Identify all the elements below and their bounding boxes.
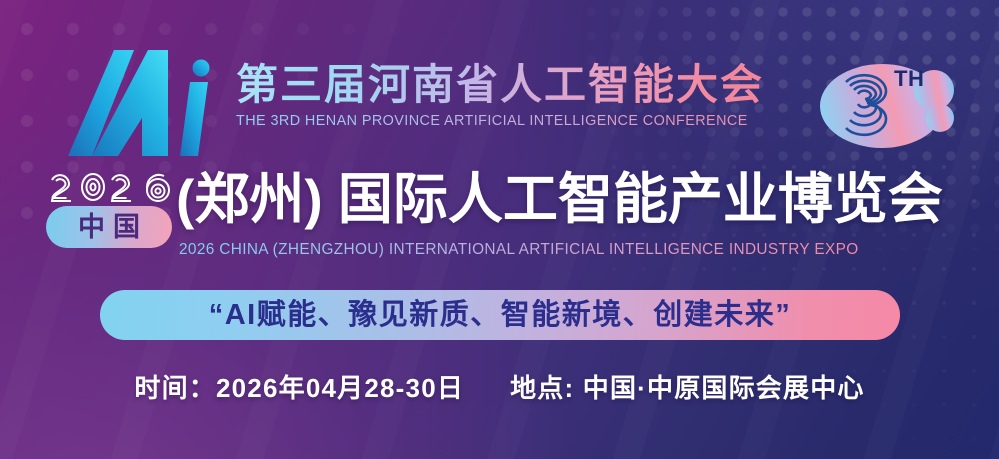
ai-monogram-logo-icon [62, 48, 230, 160]
event-venue: 地点: 中国·中原国际会展中心 [510, 368, 865, 405]
conference-title-block: 第三届河南省人工智能大会 THE 3RD HENAN PROVINCE ARTI… [236, 62, 814, 129]
slogan-text: “AI赋能、豫见新质、智能新境、创建未来” [209, 301, 792, 330]
slogan-pill: “AI赋能、豫见新质、智能新境、创建未来” [100, 290, 900, 340]
background-wash-top-right [479, 0, 999, 320]
event-info-row: 时间：2026年04月28-30日 地点: 中国·中原国际会展中心 [0, 368, 999, 405]
conference-title-cn: 第三届河南省人工智能大会 [236, 62, 814, 107]
expo-headline-cn: (郑州) 国际人工智能产业博览会 [176, 170, 943, 229]
edition-badge-suffix: TH [894, 66, 924, 92]
expo-headline-en: 2026 CHINA (ZHENGZHOU) INTERNATIONAL ART… [179, 241, 859, 259]
conference-title-en: THE 3RD HENAN PROVINCE ARTIFICIAL INTELL… [236, 113, 814, 129]
year-2026 [46, 168, 178, 204]
edition-badge: TH [816, 52, 972, 156]
country-pill: 中国 [46, 206, 172, 248]
year-country-badge: 中国 [46, 168, 178, 248]
conference-banner: 第三届河南省人工智能大会 THE 3RD HENAN PROVINCE ARTI… [0, 0, 999, 459]
country-label: 中国 [70, 214, 148, 241]
event-date: 时间：2026年04月28-30日 [134, 368, 464, 405]
